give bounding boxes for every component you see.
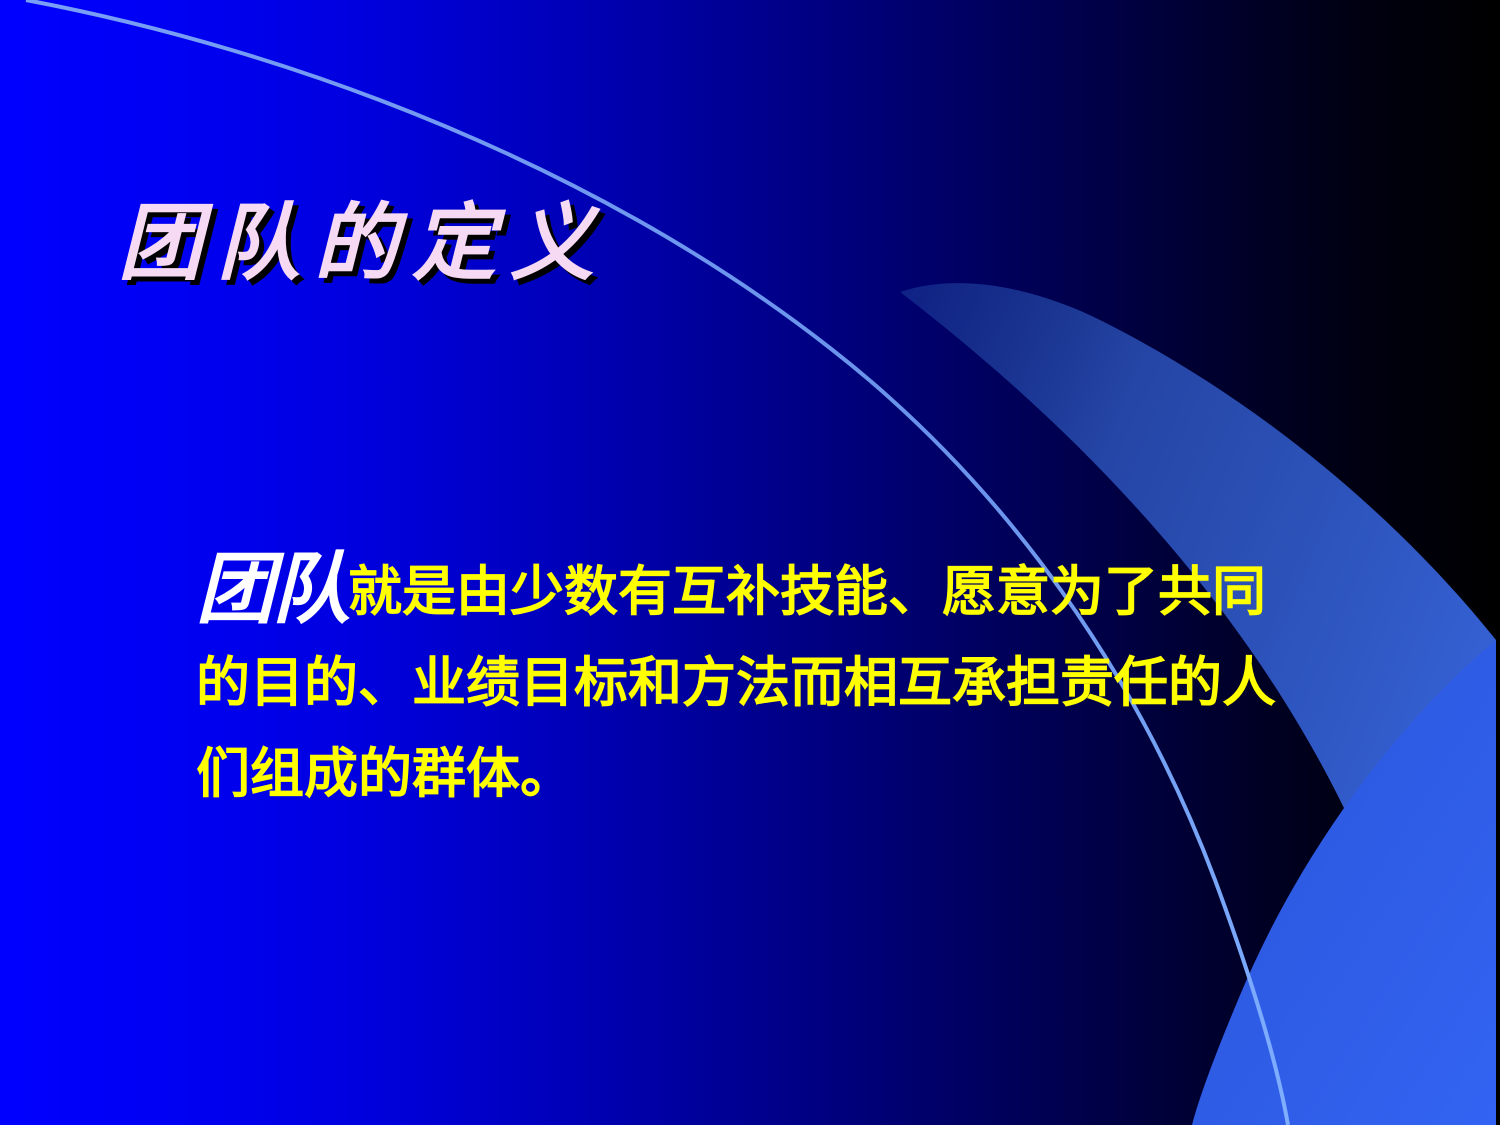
body-block: 团队就是由少数有互补技能、愿意为了共同的目的、业绩目标和方法而相互承担责任的人们… bbox=[196, 546, 1316, 819]
presentation-slide: 团队的定义 团队就是由少数有互补技能、愿意为了共同的目的、业绩目标和方法而相互承… bbox=[0, 0, 1500, 1125]
title-block: 团队的定义 bbox=[118, 196, 1018, 290]
body-rest-text: 就是由少数有互补技能、愿意为了共同的目的、业绩目标和方法而相互承担责任的人们组成… bbox=[196, 560, 1276, 805]
right-edge-strip bbox=[1496, 0, 1500, 1125]
page-title: 团队的定义 bbox=[118, 196, 1018, 290]
body-lead-word: 团队 bbox=[196, 545, 348, 635]
body-paragraph: 团队就是由少数有互补技能、愿意为了共同的目的、业绩目标和方法而相互承担责任的人们… bbox=[196, 546, 1316, 819]
